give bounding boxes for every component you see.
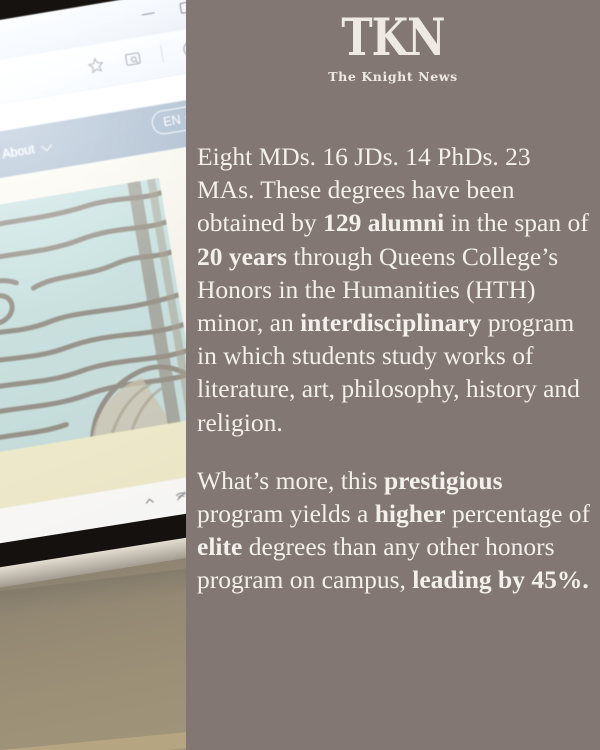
nav-item-about[interactable]: About	[1, 140, 50, 162]
show-hidden-icons-chevron[interactable]	[142, 493, 157, 508]
emphasis-text: elite	[197, 532, 242, 561]
logo-wordmark: The Knight News	[186, 70, 600, 84]
publication-logo: TKN The Knight News	[186, 10, 600, 84]
wall-lower	[0, 560, 186, 750]
artwork-region	[0, 140, 186, 456]
floor-edge	[0, 729, 186, 750]
emphasis-text: interdisciplinary	[300, 308, 481, 337]
toolbar-divider	[160, 45, 164, 63]
emphasis-text: 20 years	[197, 242, 287, 271]
emphasis-text: 129 alumni	[323, 208, 444, 237]
emphasis-text: higher	[375, 499, 446, 528]
chevron-down-icon	[41, 140, 52, 151]
article-paragraph: What’s more, this prestigious program yi…	[197, 464, 590, 597]
network-offline-icon[interactable]	[172, 488, 186, 503]
favorite-star-icon[interactable]	[86, 55, 106, 75]
article-paragraph: Eight MDs. 16 JDs. 14 PhDs. 23 MAs. Thes…	[197, 140, 590, 439]
body-text: program yields a	[197, 499, 375, 528]
woodcut-artwork	[0, 178, 186, 456]
article-body: Eight MDs. 16 JDs. 14 PhDs. 23 MAs. Thes…	[197, 140, 590, 597]
language-label: EN	[162, 113, 181, 130]
browser-toolbar-icons	[86, 38, 186, 75]
nav-item-label: About	[1, 142, 36, 161]
logo-monogram: TKN	[341, 10, 444, 66]
body-text: in the span of	[444, 208, 588, 237]
body-text: percentage of	[446, 499, 590, 528]
body-text: What’s more, this	[197, 466, 384, 495]
classroom-projection-photo: rs About EN	[0, 0, 186, 750]
emphasis-text: prestigious	[384, 466, 503, 495]
collections-icon[interactable]	[123, 49, 144, 69]
emphasis-text: leading by 45%.	[412, 565, 588, 594]
maximize-icon[interactable]	[179, 1, 186, 14]
social-graphic: rs About EN	[0, 0, 600, 750]
projected-screen: rs About EN	[0, 0, 186, 549]
language-selector[interactable]: EN	[150, 104, 186, 137]
minimize-icon[interactable]	[142, 12, 155, 16]
window-controls[interactable]	[141, 1, 186, 20]
text-overlay-panel: TKN The Knight News Eight MDs. 16 JDs. 1…	[186, 0, 600, 750]
